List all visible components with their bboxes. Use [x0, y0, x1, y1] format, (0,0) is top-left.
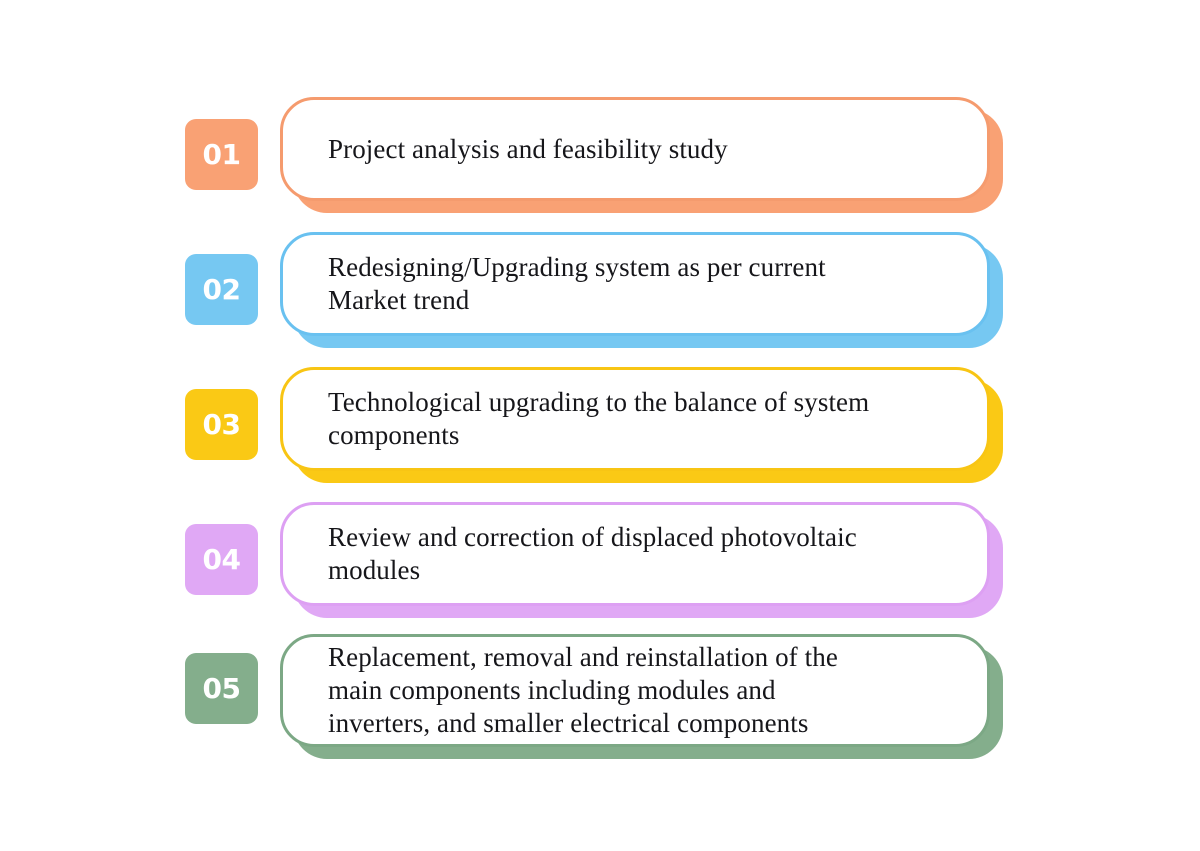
- step-card: Technological upgrading to the balance o…: [280, 367, 990, 471]
- step-number-badge: 04: [185, 524, 258, 595]
- step-description: Redesigning/Upgrading system as per curr…: [283, 251, 856, 317]
- step-description: Replacement, removal and reinstallation …: [283, 641, 868, 740]
- step-number-label: 02: [203, 276, 241, 304]
- steps-infographic: 01Project analysis and feasibility study…: [0, 0, 1200, 851]
- step-number-badge: 01: [185, 119, 258, 190]
- step-number-label: 01: [203, 141, 241, 169]
- step-description: Review and correction of displaced photo…: [283, 521, 887, 587]
- step-card: Project analysis and feasibility study: [280, 97, 990, 201]
- step-number-badge: 03: [185, 389, 258, 460]
- step-description: Project analysis and feasibility study: [283, 133, 758, 166]
- step-number-badge: 02: [185, 254, 258, 325]
- step-number-badge: 05: [185, 653, 258, 724]
- step-card: Review and correction of displaced photo…: [280, 502, 990, 606]
- step-number-label: 03: [203, 411, 241, 439]
- step-number-label: 04: [203, 546, 241, 574]
- step-card: Redesigning/Upgrading system as per curr…: [280, 232, 990, 336]
- step-description: Technological upgrading to the balance o…: [283, 386, 899, 452]
- step-number-label: 05: [203, 675, 241, 703]
- step-card: Replacement, removal and reinstallation …: [280, 634, 990, 747]
